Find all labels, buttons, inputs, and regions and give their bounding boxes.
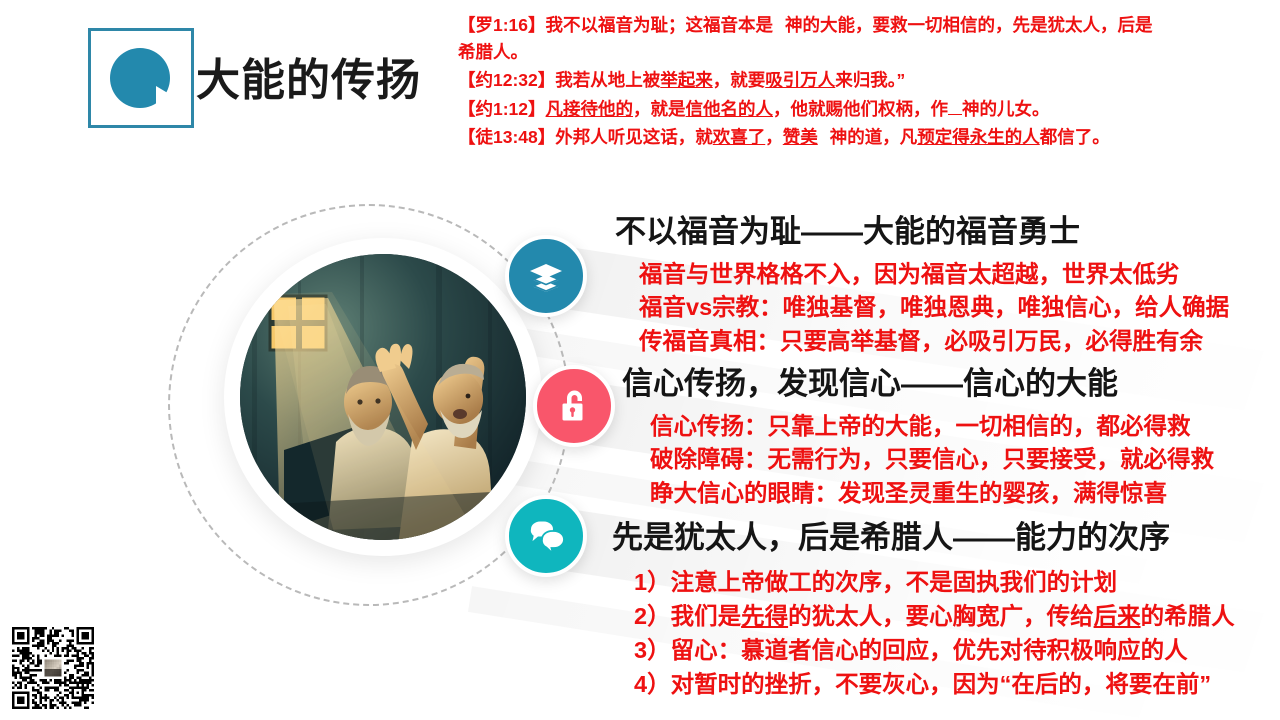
section-1-lines: 福音与世界格格不入，因为福音太超越，世界太低劣 福音vs宗教：唯独基督，唯独恩典… [639, 258, 1229, 358]
section-1-line-1: 福音与世界格格不入，因为福音太超越，世界太低劣 [639, 258, 1229, 291]
verse-acts-13-48: 【徒13:48】外邦人听见这话，就欢喜了，赞美神的道，凡预定得永生的人都信了。 [458, 124, 1270, 151]
qr-code[interactable] [12, 627, 94, 709]
section-3-heading: 先是犹太人，后是希腊人——能力的次序 [612, 518, 1235, 559]
section-2-line-1: 信心传扬：只靠上帝的大能，一切相信的，都必得救 [650, 410, 1214, 443]
section-2-heading: 信心传扬，发现信心——信心的大能 [622, 364, 1214, 405]
section-1-line-3: 传福音真相：只要高举基督，必吸引万民，必得胜有余 [639, 325, 1229, 358]
section-3-line-1: 1）注意上帝做工的次序，不是固执我们的计划 [634, 565, 1235, 599]
layers-icon[interactable] [505, 235, 587, 317]
play-triangle-icon [156, 86, 176, 110]
section-3-line-4: 4）对暂时的挫折，不要灰心，因为“在后的，将要在前” [634, 667, 1235, 701]
unlock-icon[interactable] [533, 365, 615, 447]
qr-code-canvas [12, 627, 94, 709]
verse-john-12-32: 【约12:32】我若从地上被举起来，就要吸引万人来归我。” [458, 67, 1270, 94]
section-3-line-3: 3）留心：慕道者信心的回应，优先对待积极响应的人 [634, 633, 1235, 667]
page-title: 大能的传扬 [196, 44, 421, 108]
section-1-line-2: 福音vs宗教：唯独基督，唯独恩典，唯独信心，给人确据 [639, 291, 1229, 324]
slide-canvas: 大能的传扬 【罗1:16】我不以福音为耻；这福音本是神的大能，要救一切相信的，先… [0, 0, 1280, 720]
section-3-line-2: 2）我们是先得的犹太人，要心胸宽广，传给后来的希腊人 [634, 599, 1235, 633]
section-gospel-courage: 不以福音为耻——大能的福音勇士 福音与世界格格不入，因为福音太超越，世界太低劣 … [615, 212, 1229, 358]
section-2-lines: 信心传扬：只靠上帝的大能，一切相信的，都必得救 破除障碍：无需行为，只要信心，只… [650, 410, 1214, 510]
section-3-lines: 1）注意上帝做工的次序，不是固执我们的计划 2）我们是先得的犹太人，要心胸宽广，… [634, 565, 1235, 701]
section-2-line-2: 破除障碍：无需行为，只要信心，只要接受，就必得救 [650, 443, 1214, 476]
scripture-block: 【罗1:16】我不以福音为耻；这福音本是神的大能，要救一切相信的，先是犹太人，后… [458, 12, 1270, 153]
logo-mark [88, 28, 194, 128]
chat-bubbles-icon[interactable] [505, 495, 587, 577]
play-button-icon [110, 48, 170, 108]
section-1-heading: 不以福音为耻——大能的福音勇士 [615, 212, 1229, 253]
verse-rom-1-16: 【罗1:16】我不以福音为耻；这福音本是神的大能，要救一切相信的，先是犹太人，后… [458, 12, 1270, 65]
section-faith-power: 信心传扬，发现信心——信心的大能 信心传扬：只靠上帝的大能，一切相信的，都必得救… [622, 364, 1214, 510]
section-2-line-3: 睁大信心的眼睛：发现圣灵重生的婴孩，满得惊喜 [650, 477, 1214, 510]
prison-praise-illustration [240, 254, 526, 540]
verse-john-1-12: 【约1:12】凡接待他的，就是信他名的人，他就赐他们权柄，作神的儿女。 [458, 96, 1270, 123]
section-order-of-power: 先是犹太人，后是希腊人——能力的次序 1）注意上帝做工的次序，不是固执我们的计划… [612, 518, 1235, 701]
